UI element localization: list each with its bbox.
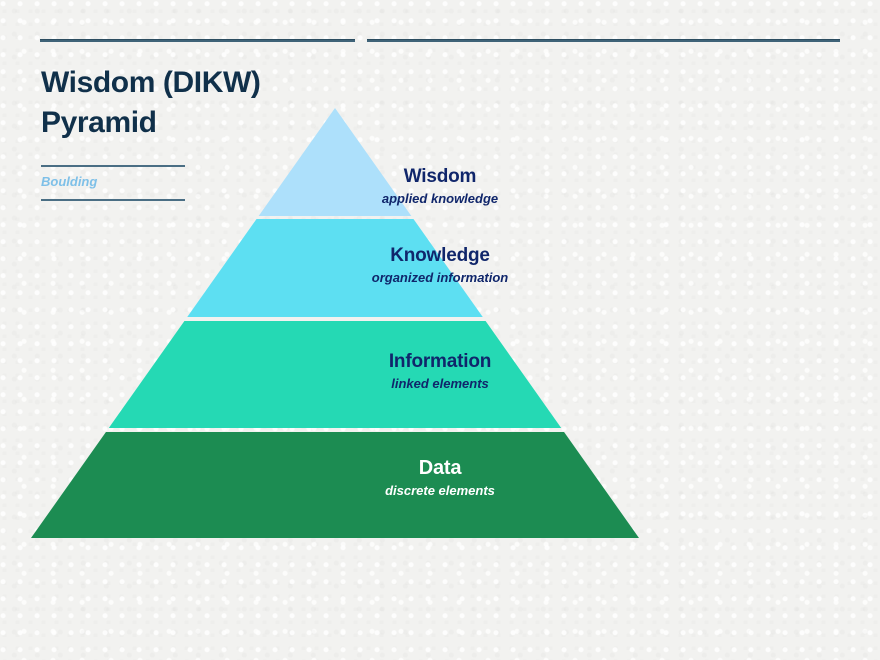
tier-title-wisdom: Wisdom (0, 166, 880, 188)
header-rule-left (40, 39, 355, 42)
pyramid-tier-data[interactable] (31, 432, 639, 538)
page-title-line2: Pyramid (41, 106, 157, 139)
slide-canvas: Wisdom (DIKW) Pyramid Boulding Wisdom ap… (0, 0, 880, 660)
page-title: Wisdom (DIKW) Pyramid (41, 63, 341, 143)
pyramid-tier-information[interactable] (109, 321, 561, 428)
pyramid-tier-knowledge[interactable] (187, 219, 483, 317)
byline-rule-above (41, 165, 185, 167)
header-rule-right (367, 39, 840, 42)
byline: Boulding (41, 174, 97, 189)
byline-rule-below (41, 199, 185, 201)
page-title-line1: Wisdom (DIKW) (41, 66, 261, 99)
